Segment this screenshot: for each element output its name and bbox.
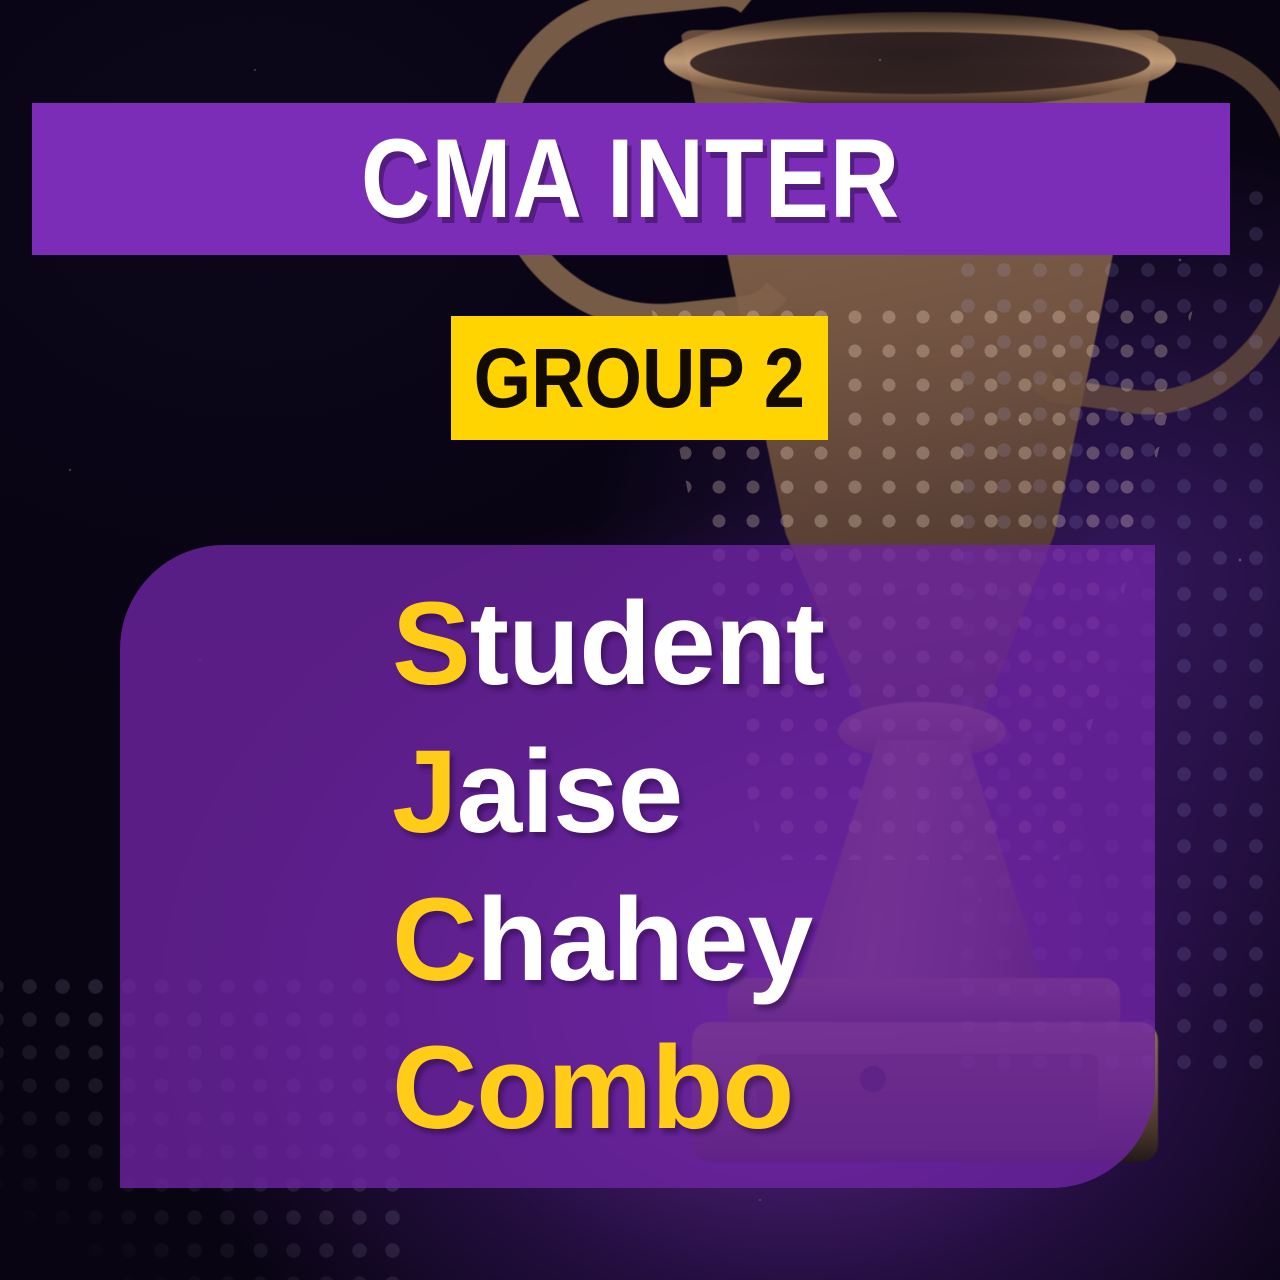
headline-line-3-initial: C bbox=[392, 874, 476, 1006]
headline-line-4: Combo bbox=[392, 1014, 1092, 1162]
headline-line-1-initial: S bbox=[392, 578, 470, 710]
headline-line-4-rest: ombo bbox=[476, 1022, 793, 1154]
headline-line-2: Jaise bbox=[392, 718, 1092, 866]
course-title: CMA INTER bbox=[361, 123, 900, 235]
offer-headline: Student Jaise Chahey Combo bbox=[392, 570, 1092, 1162]
group-badge: GROUP 2 bbox=[451, 316, 828, 440]
headline-line-1: Student bbox=[392, 570, 1092, 718]
headline-line-3-rest: hahey bbox=[476, 874, 812, 1006]
headline-line-3: Chahey bbox=[392, 866, 1092, 1014]
course-title-banner: CMA INTER bbox=[32, 103, 1230, 255]
headline-line-4-initial: C bbox=[392, 1022, 476, 1154]
promo-poster: CMA INTER GROUP 2 Student Jaise Chahey C… bbox=[0, 0, 1280, 1280]
headline-line-1-rest: tudent bbox=[470, 578, 824, 710]
headline-line-2-rest: aise bbox=[457, 726, 683, 858]
group-badge-label: GROUP 2 bbox=[474, 336, 805, 420]
headline-line-2-initial: J bbox=[392, 726, 457, 858]
